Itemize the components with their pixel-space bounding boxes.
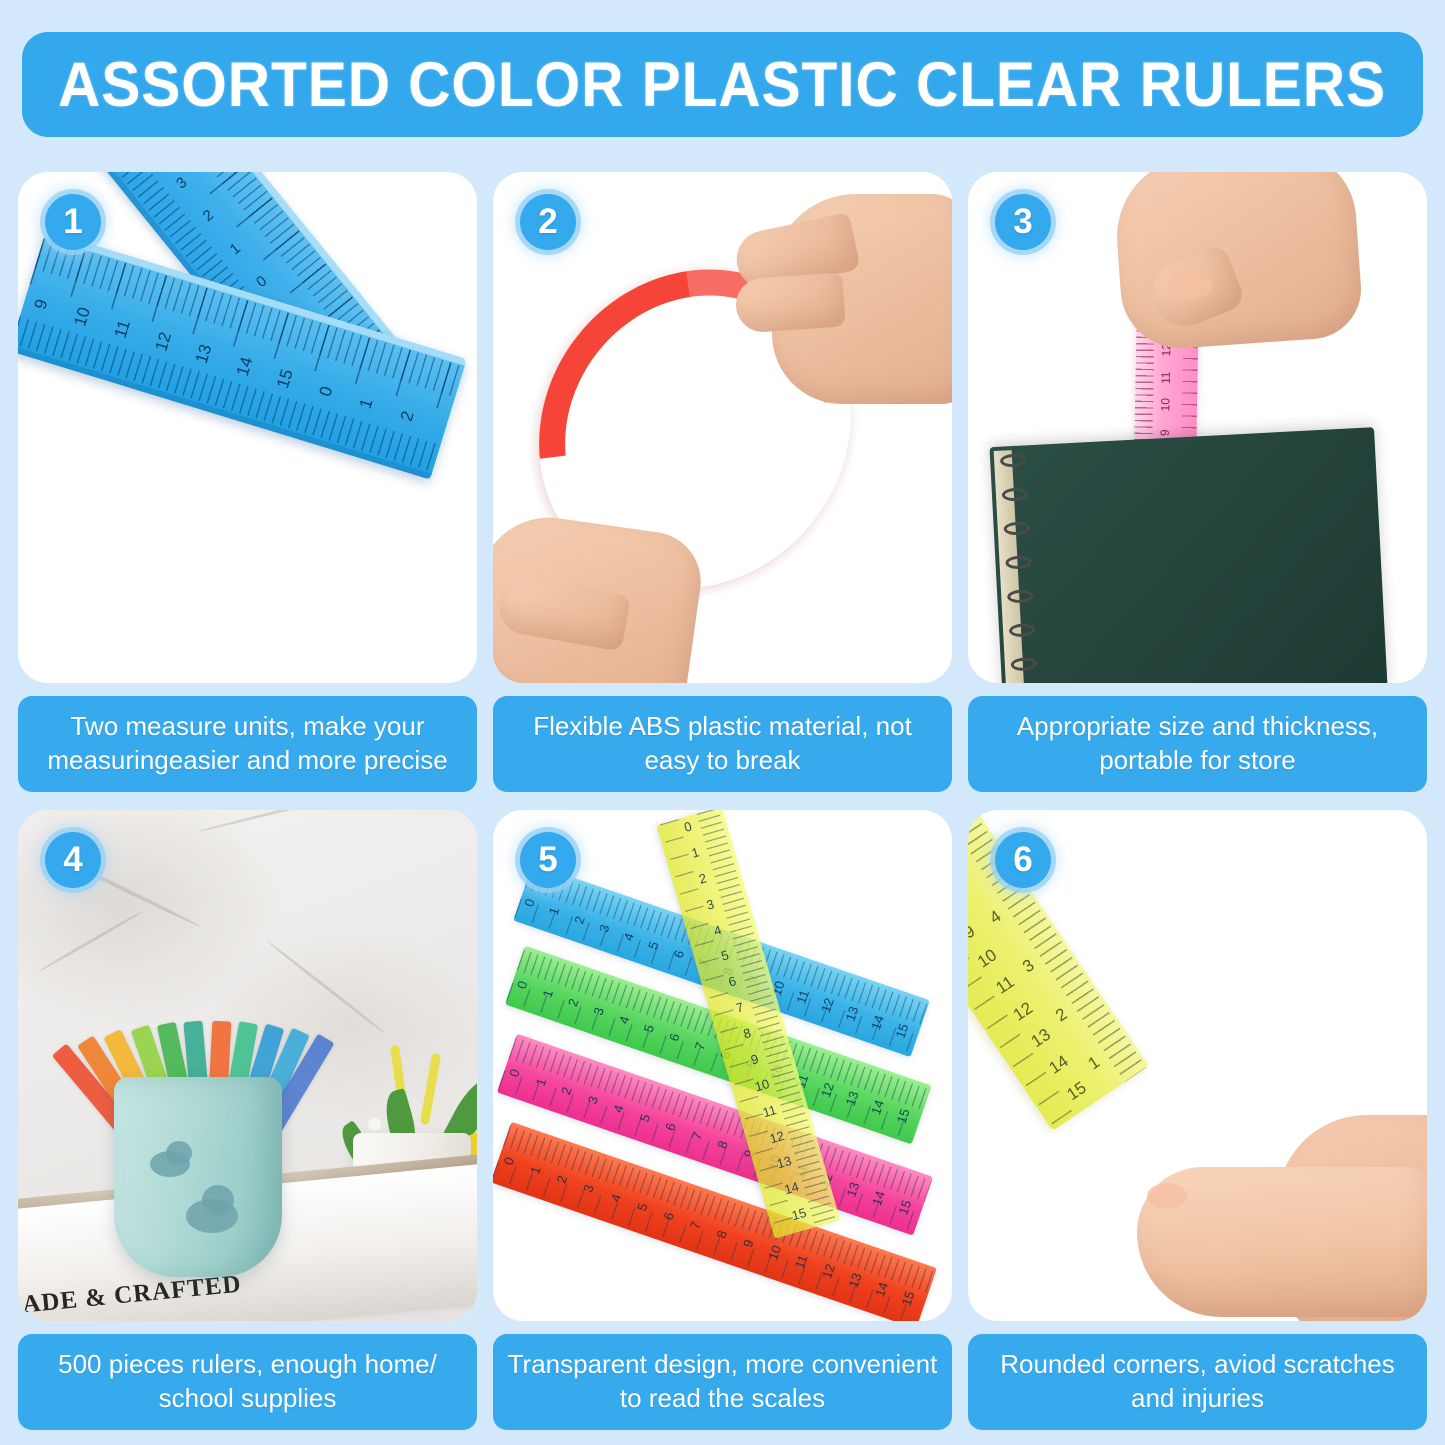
marble-vein bbox=[198, 810, 402, 833]
title-banner: ASSORTED COLOR PLASTIC CLEAR RULERS bbox=[22, 32, 1423, 137]
feature-caption-4: 500 pieces rulers, enough home/ school s… bbox=[18, 1334, 477, 1430]
feature-caption-text-2: Flexible ABS plastic material, not easy … bbox=[507, 710, 938, 777]
fingernail bbox=[1147, 1183, 1187, 1209]
page-title: ASSORTED COLOR PLASTIC CLEAR RULERS bbox=[58, 49, 1386, 121]
thumb-upper bbox=[734, 272, 846, 333]
feature-photo-1: 1 6543210123 91 bbox=[18, 172, 477, 683]
feature-caption-text-3: Appropriate size and thickness, portable… bbox=[982, 710, 1413, 777]
thumbnail bbox=[1168, 270, 1212, 300]
feature-photo-5: 0123456789101112131415 01234567891011121… bbox=[493, 810, 952, 1321]
infographic-page: ASSORTED COLOR PLASTIC CLEAR RULERS 1 65… bbox=[0, 0, 1445, 1445]
feature-caption-1: Two measure units, make your measuringea… bbox=[18, 696, 477, 792]
feature-cell-6: 654321 56789101112131415 6 Rounded corne… bbox=[968, 810, 1427, 1430]
feature-cell-4: ADE & CRAFTED 4 bbox=[18, 810, 477, 1430]
badge-number-1: 1 bbox=[45, 194, 101, 250]
feature-caption-2: Flexible ABS plastic material, not easy … bbox=[493, 696, 952, 792]
hand-holding-ruler bbox=[1112, 172, 1365, 352]
feature-photo-3: 3 1514131211109 bbox=[968, 172, 1427, 683]
feature-cell-3: 3 1514131211109 bbox=[968, 172, 1427, 792]
feature-photo-6: 654321 56789101112131415 6 bbox=[968, 810, 1427, 1321]
feature-caption-text-6: Rounded corners, aviod scratches and inj… bbox=[982, 1348, 1413, 1415]
pen-cup bbox=[114, 1077, 282, 1277]
feature-caption-text-4: 500 pieces rulers, enough home/ school s… bbox=[32, 1348, 463, 1415]
feature-cell-5: 0123456789101112131415 01234567891011121… bbox=[493, 810, 952, 1430]
marble-vein bbox=[266, 940, 386, 1035]
feature-caption-3: Appropriate size and thickness, portable… bbox=[968, 696, 1427, 792]
feature-caption-text-1: Two measure units, make your measuringea… bbox=[32, 710, 463, 777]
feature-cell-1: 1 6543210123 91 bbox=[18, 172, 477, 792]
marble-vein bbox=[38, 910, 143, 973]
feature-photo-4: ADE & CRAFTED 4 bbox=[18, 810, 477, 1321]
feature-photo-2: 2 bbox=[493, 172, 952, 683]
feature-caption-5: Transparent design, more convenient to r… bbox=[493, 1334, 952, 1430]
pointing-finger bbox=[1137, 1167, 1427, 1317]
badge-number-4: 4 bbox=[45, 832, 101, 888]
badge-number-6: 6 bbox=[995, 832, 1051, 888]
feature-grid: 1 6543210123 91 bbox=[18, 172, 1427, 1430]
badge-number-5: 5 bbox=[520, 832, 576, 888]
feature-caption-6: Rounded corners, aviod scratches and inj… bbox=[968, 1334, 1427, 1430]
spiral-notebook bbox=[989, 428, 1387, 684]
badge-number-2: 2 bbox=[520, 194, 576, 250]
badge-number-3: 3 bbox=[995, 194, 1051, 250]
feature-cell-2: 2 Flexible ABS plastic material, not eas… bbox=[493, 172, 952, 792]
feature-caption-text-5: Transparent design, more convenient to r… bbox=[507, 1348, 938, 1415]
